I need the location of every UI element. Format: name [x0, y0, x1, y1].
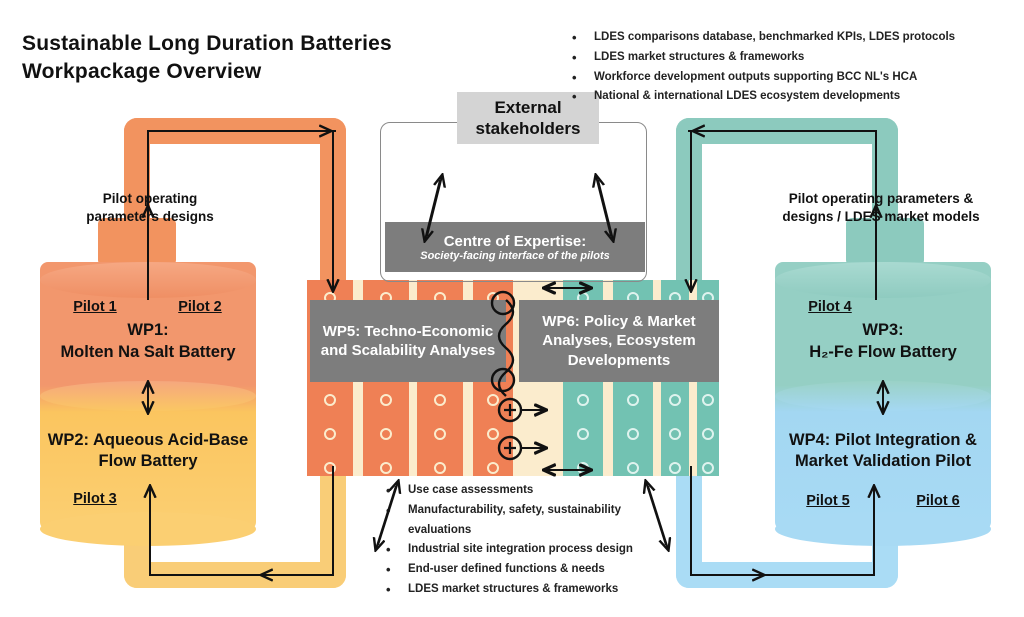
centre-of-expertise-box[interactable]: Centre of Expertise: Society-facing inte…: [385, 222, 645, 272]
list-item: Use case assessments: [382, 481, 682, 501]
electrode-pore-dot: [434, 428, 446, 440]
list-item: National & international LDES ecosystem …: [568, 87, 1018, 107]
electrode-pore-dot: [324, 428, 336, 440]
electrode-pore-dot: [434, 394, 446, 406]
pipe-orange-top-horizontal: [124, 118, 346, 144]
list-item: End-user defined functions & needs: [382, 560, 682, 580]
list-item: Industrial site integration process desi…: [382, 540, 682, 560]
pipe-teal-top-horizontal: [676, 118, 898, 144]
cylinder-right-bottom-ellipse: [775, 512, 991, 546]
electrode-pore-dot: [380, 428, 392, 440]
wp3-name: H₂-Fe Flow Battery: [765, 342, 1001, 363]
pilot-label-4: Pilot 4: [790, 298, 870, 317]
electrode-pore-dot: [627, 428, 639, 440]
electrode-pore-dot: [380, 394, 392, 406]
cylinder-right-top-ellipse: [775, 262, 991, 298]
electrode-pore-dot: [487, 394, 499, 406]
electrode-pore-dot: [487, 428, 499, 440]
wp1-code: WP1:: [40, 320, 256, 341]
pilot-label-5: Pilot 5: [788, 492, 868, 511]
electrode-pore-dot: [702, 462, 714, 474]
list-item: LDES market structures & frameworks: [568, 48, 1018, 68]
electrode-pore-dot: [487, 462, 499, 474]
electrode-pore-dot: [669, 428, 681, 440]
pipe-teal-left-vertical: [676, 118, 702, 300]
cylinder-left-top-ellipse: [40, 262, 256, 298]
pilot-label-2: Pilot 2: [160, 298, 240, 317]
electrode-pore-dot: [324, 394, 336, 406]
electrode-pore-dot: [577, 428, 589, 440]
electrode-pore-dot: [380, 462, 392, 474]
bottom-outputs-list: Use case assessments Manufacturability, …: [382, 481, 682, 600]
electrode-pore-dot: [324, 462, 336, 474]
electrode-pore-dot: [702, 428, 714, 440]
electrode-pore-dot: [577, 394, 589, 406]
coe-subtitle: Society-facing interface of the pilots: [420, 250, 609, 262]
pilot-label-3: Pilot 3: [55, 490, 135, 509]
list-item: LDES market structures & frameworks: [382, 580, 682, 600]
electrode-pore-dot: [577, 462, 589, 474]
wp1-name: Molten Na Salt Battery: [30, 342, 266, 363]
wp2-name: WP2: Aqueous Acid-Base Flow Battery: [30, 430, 266, 473]
pipe-orange-right-vertical: [320, 118, 346, 300]
electrode-pore-dot: [627, 462, 639, 474]
list-item: Workforce development outputs supporting…: [568, 68, 1018, 88]
wp6-box[interactable]: WP6: Policy & Market Analyses, Ecosystem…: [519, 300, 719, 382]
electrode-pore-dot: [627, 394, 639, 406]
wp3-code: WP3:: [775, 320, 991, 341]
cylinder-left-mid-ellipse: [40, 381, 256, 411]
wp5-box[interactable]: WP5: Techno-Economic and Scalability Ana…: [310, 300, 506, 382]
list-item: Manufacturability, safety, sustainabilit…: [382, 501, 682, 541]
coe-title: Centre of Expertise:: [444, 233, 587, 250]
left-feedback-label: Pilot operating parameters designs: [60, 190, 240, 226]
wp4-name: WP4: Pilot Integration & Market Validati…: [763, 430, 1003, 473]
pilot-label-1: Pilot 1: [55, 298, 135, 317]
electrode-pore-dot: [702, 394, 714, 406]
electrode-pore-dot: [669, 394, 681, 406]
top-outputs-list: LDES comparisons database, benchmarked K…: [568, 28, 1018, 107]
list-item: LDES comparisons database, benchmarked K…: [568, 28, 1018, 48]
cylinder-right-mid-ellipse: [775, 381, 991, 411]
page-title: Sustainable Long Duration Batteries Work…: [22, 30, 482, 87]
pilot-label-6: Pilot 6: [898, 492, 978, 511]
cylinder-left-bottom-ellipse: [40, 512, 256, 546]
right-feedback-label: Pilot operating parameters & designs / L…: [756, 190, 1006, 226]
pipe-blue-bottom-horizontal: [676, 562, 898, 588]
electrode-pore-dot: [434, 462, 446, 474]
pipe-yellow-bottom-horizontal: [124, 562, 346, 588]
electrode-pore-dot: [669, 462, 681, 474]
